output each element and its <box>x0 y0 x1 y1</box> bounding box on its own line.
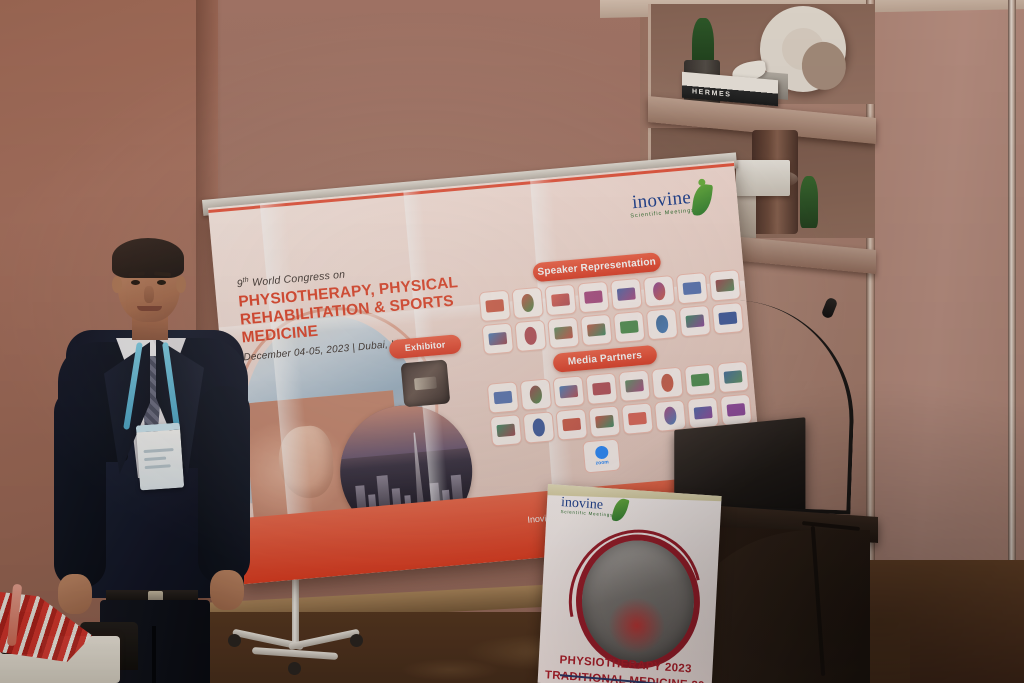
partner-logo-mark <box>620 320 638 334</box>
partner-logo-mark <box>683 281 701 295</box>
ear-left <box>112 276 122 293</box>
trouser-gap <box>152 626 156 683</box>
partner-logo-mark <box>494 391 512 405</box>
podium-sign-logo: inovine Scientific Meetings <box>560 495 614 518</box>
caster-wheel <box>288 662 301 675</box>
partner-logo-cell <box>544 284 577 317</box>
partner-logo-cell <box>481 322 514 355</box>
caster-wheel <box>350 634 363 647</box>
partner-logo-cell <box>520 378 553 411</box>
partner-logo-cell <box>585 372 618 405</box>
partner-logo-mark <box>661 374 674 392</box>
partner-logo-cell <box>610 278 643 311</box>
exhibitor-logo <box>401 359 451 407</box>
partner-logo-cell <box>547 317 580 350</box>
eye-right <box>157 280 166 285</box>
ear-right <box>176 276 186 293</box>
partner-logo-cell <box>514 320 547 353</box>
partner-logo-cell <box>577 281 610 314</box>
partner-logo-cell <box>487 381 520 414</box>
hand-right <box>210 570 244 610</box>
partner-logo-cell <box>511 287 544 320</box>
media-partners-label: Media Partners <box>552 345 657 373</box>
partner-logo-mark <box>521 294 534 312</box>
partner-logo-mark <box>655 315 668 333</box>
partner-logo-cell <box>613 311 646 344</box>
partner-logo-cell <box>709 269 742 302</box>
podium-sign: inovine Scientific Meetings PHYSIOTHERAP… <box>538 484 722 683</box>
partner-logo-cell <box>479 290 512 323</box>
partner-logo-mark <box>551 293 569 307</box>
partner-logo-cell <box>646 308 679 341</box>
partner-logo-mark <box>529 385 542 403</box>
partner-logo-mark <box>617 287 635 301</box>
partner-logo-mark <box>554 326 572 340</box>
badge-text-line <box>144 448 174 453</box>
partner-logo-mark <box>584 290 602 304</box>
conference-photo-scene: HERMES <box>0 0 1024 683</box>
partner-logo-mark <box>486 299 504 313</box>
partner-logo-mark <box>625 379 643 393</box>
partner-logo-cell <box>490 414 523 447</box>
small-plant-icon <box>800 176 818 228</box>
partner-logo-cell <box>580 314 613 347</box>
arm-right <box>198 386 250 584</box>
partner-logo-mark <box>497 423 515 437</box>
hair <box>112 238 184 278</box>
partner-logo-cell <box>676 272 709 305</box>
partner-logo-mark <box>587 323 605 337</box>
partner-logo-mark <box>686 314 704 328</box>
speaker-logo-grid <box>479 269 745 355</box>
wall-plate <box>736 160 790 196</box>
inovine-logo: inovine Scientific Meetings <box>628 187 695 220</box>
conference-badge <box>136 423 184 491</box>
nose <box>144 286 154 303</box>
partner-logo-cell <box>651 367 684 400</box>
partner-logo-mark <box>560 385 578 399</box>
hand-left <box>58 574 92 614</box>
arm-left <box>54 388 106 588</box>
partner-logo-cell <box>618 370 651 403</box>
partner-logo-mark <box>691 373 709 387</box>
partner-logo-cell <box>643 275 676 308</box>
eye-left <box>131 280 140 285</box>
partner-logo-mark <box>524 327 537 345</box>
partner-logo-mark <box>716 278 734 292</box>
sky-gradient <box>335 400 471 460</box>
inovine-swoosh-icon <box>691 183 713 217</box>
badge-text-line <box>145 464 171 469</box>
mouth <box>137 306 162 311</box>
partner-logo-mark <box>653 282 666 300</box>
standing-person <box>52 238 252 683</box>
partner-logo-cell <box>552 375 585 408</box>
partner-logo-cell <box>679 305 712 338</box>
partner-logo-mark <box>592 382 610 396</box>
badge-text-line <box>144 457 166 462</box>
partner-logo-mark <box>489 332 507 346</box>
